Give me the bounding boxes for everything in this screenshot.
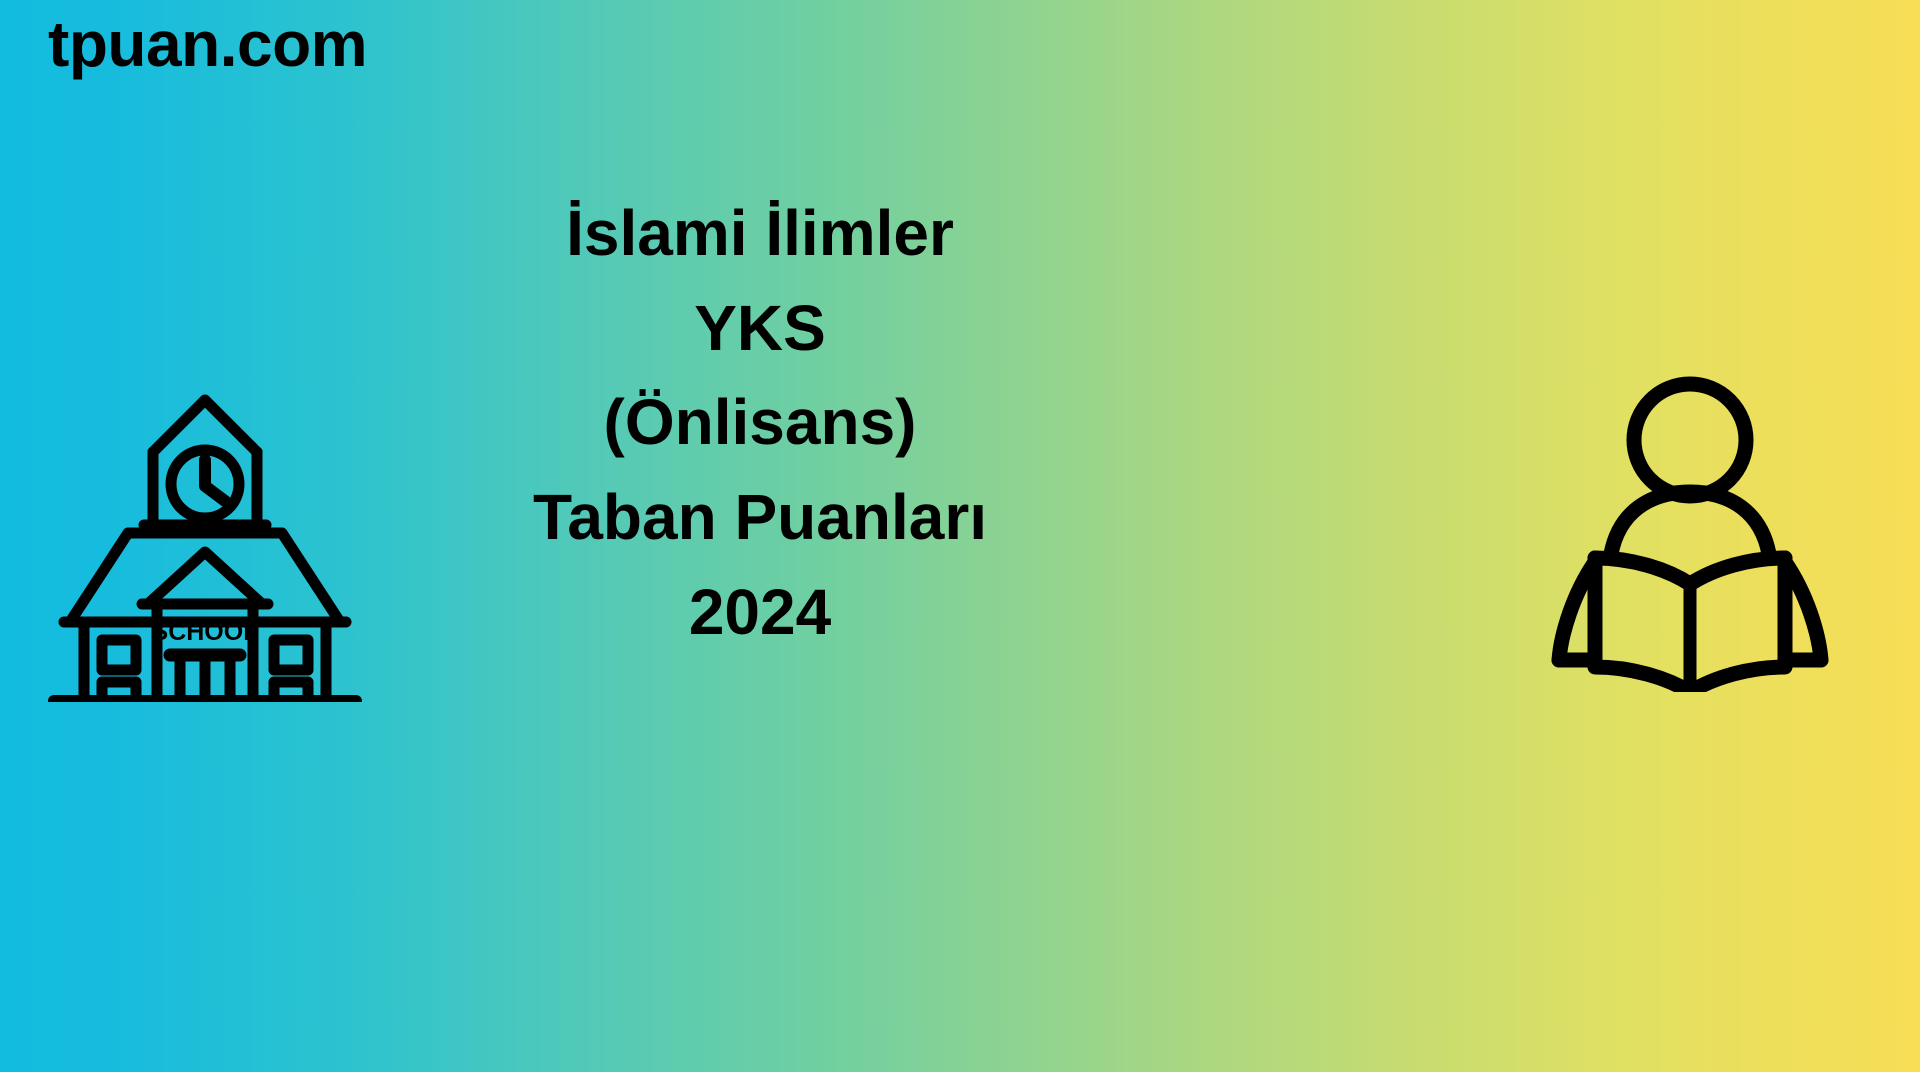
- school-building-icon: SCHOOL: [40, 352, 370, 702]
- title-line-2: YKS: [430, 281, 1090, 376]
- page-title: İslami İlimler YKS (Önlisans) Taban Puan…: [430, 186, 1090, 660]
- bottom-white-strip: [0, 1072, 1920, 1080]
- title-line-5: 2024: [430, 565, 1090, 660]
- person-reading-book-icon: [1545, 372, 1835, 692]
- hero-banner: tpuan.com: [0, 0, 1920, 1072]
- title-line-4: Taban Puanları: [430, 470, 1090, 565]
- school-sign-label: SCHOOL: [152, 618, 259, 646]
- title-line-3: (Önlisans): [430, 375, 1090, 470]
- site-logo[interactable]: tpuan.com: [48, 8, 367, 82]
- title-line-1: İslami İlimler: [430, 186, 1090, 281]
